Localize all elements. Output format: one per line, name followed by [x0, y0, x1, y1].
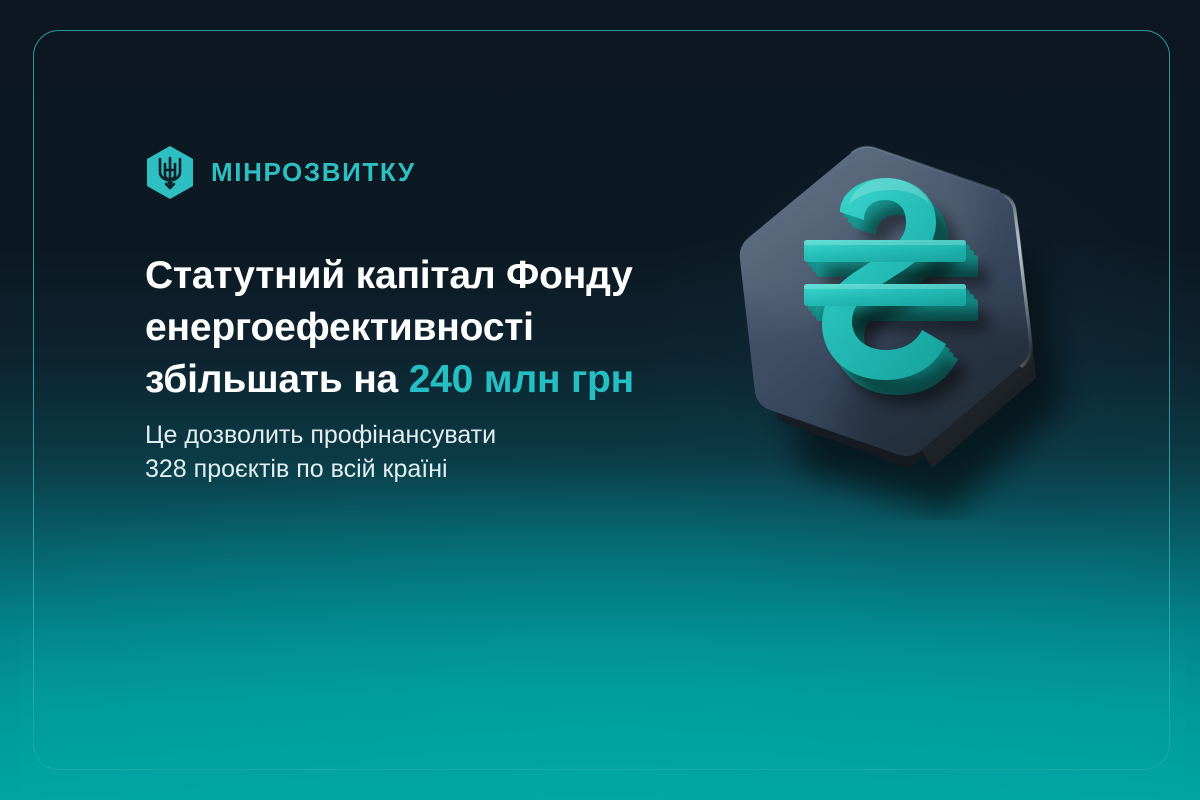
headline: Статутний капітал Фонду енергоефективнос…: [145, 250, 705, 406]
border-frame-fade-overlay: [20, 620, 1185, 800]
poster-canvas: МІНРОЗВИТКУ Статутний капітал Фонду енер…: [0, 0, 1200, 800]
ukraine-trident-hexagon-icon: [145, 145, 195, 200]
brand-name-label: МІНРОЗВИТКУ: [211, 157, 416, 188]
headline-line-2: енергоефективності: [145, 302, 705, 354]
headline-amount-accent: 240 млн грн: [409, 358, 634, 401]
brand-lockup: МІНРОЗВИТКУ: [145, 145, 416, 200]
hryvnia-3d-hexagon-icon: [700, 120, 1100, 520]
headline-line-3: збільшать на 240 млн грн: [145, 354, 705, 406]
headline-line-1: Статутний капітал Фонду: [145, 250, 705, 302]
subtitle-line-2: 328 проєктів по всій країні: [145, 452, 665, 486]
subtitle: Це дозволить профінансувати 328 проєктів…: [145, 418, 665, 486]
subtitle-line-1: Це дозволить профінансувати: [145, 418, 665, 452]
headline-line-3-prefix: збільшать на: [145, 358, 409, 401]
